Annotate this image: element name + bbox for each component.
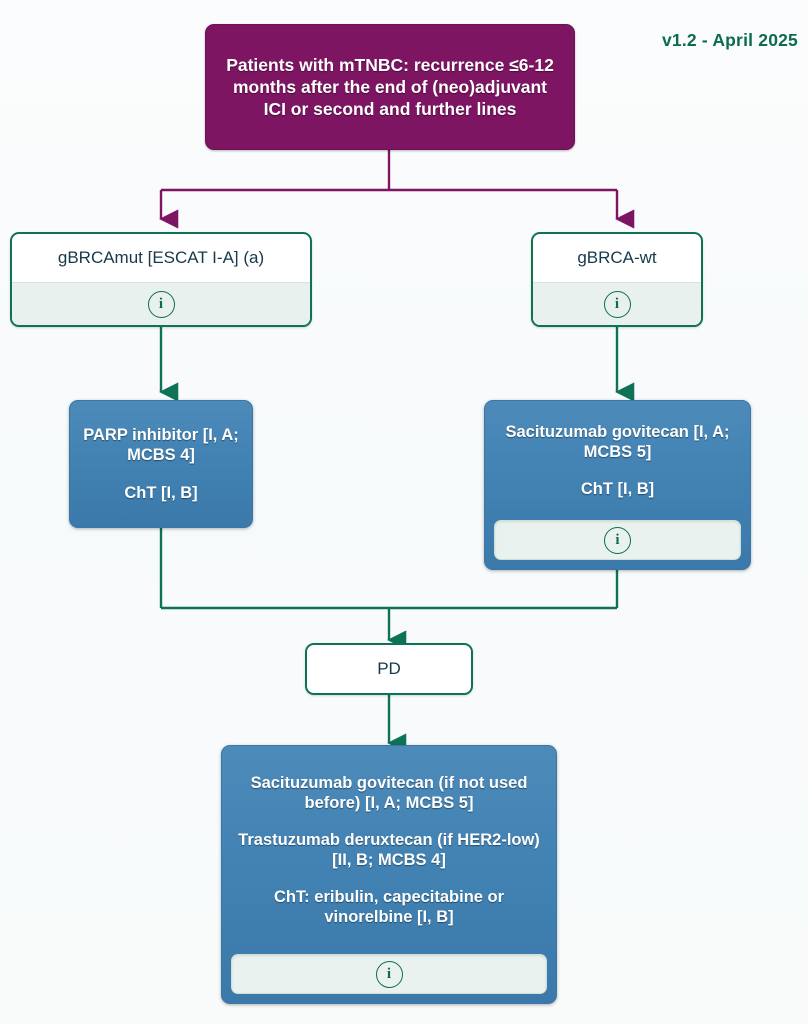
node-label-option-2: Trastuzumab deruxtecan (if HER2-low) [II…	[234, 830, 544, 870]
info-bar[interactable]: i	[494, 520, 741, 560]
node-label-primary: Sacituzumab govitecan [I, A; MCBS 5]	[497, 422, 738, 462]
node-label: Patients with mTNBC: recurrence ≤6-12 mo…	[220, 54, 560, 120]
version-label: v1.2 - April 2025	[662, 30, 798, 51]
info-icon[interactable]: i	[604, 291, 631, 318]
node-label-secondary: ChT [I, B]	[581, 479, 654, 499]
node-gbrca-wildtype[interactable]: gBRCA-wt i	[531, 232, 703, 327]
info-icon[interactable]: i	[604, 527, 631, 554]
node-label-secondary: ChT [I, B]	[124, 483, 197, 503]
node-label-option-3: ChT: eribulin, capecitabine or vinorelbi…	[234, 887, 544, 927]
node-label: gBRCA-wt	[577, 248, 656, 268]
info-bar[interactable]: i	[231, 954, 547, 994]
node-gbrca-mutated[interactable]: gBRCAmut [ESCAT I-A] (a) i	[10, 232, 312, 327]
info-icon[interactable]: i	[148, 291, 175, 318]
node-body: gBRCAmut [ESCAT I-A] (a)	[12, 234, 310, 282]
node-body: Patients with mTNBC: recurrence ≤6-12 mo…	[206, 25, 574, 149]
node-label: PD	[377, 659, 401, 679]
node-progressive-disease[interactable]: PD	[305, 643, 473, 695]
node-body: PARP inhibitor [I, A; MCBS 4] ChT [I, B]	[70, 401, 252, 527]
node-label-primary: PARP inhibitor [I, A; MCBS 4]	[82, 425, 240, 465]
node-label: gBRCAmut [ESCAT I-A] (a)	[58, 248, 264, 268]
treatment-algorithm-diagram: v1.2 - April 2025 Patients with mTNBC: r…	[0, 0, 808, 1024]
info-icon[interactable]: i	[376, 961, 403, 988]
node-parp-inhibitor-treatment[interactable]: PARP inhibitor [I, A; MCBS 4] ChT [I, B]	[69, 400, 253, 528]
node-label-option-1: Sacituzumab govitecan (if not used befor…	[234, 773, 544, 813]
node-body: PD	[307, 645, 471, 693]
node-sacituzumab-govitecan-treatment[interactable]: Sacituzumab govitecan [I, A; MCBS 5] ChT…	[484, 400, 751, 570]
info-bar[interactable]: i	[533, 282, 701, 325]
node-body: Sacituzumab govitecan (if not used befor…	[222, 746, 556, 954]
node-body: Sacituzumab govitecan [I, A; MCBS 5] ChT…	[485, 401, 750, 520]
node-body: gBRCA-wt	[533, 234, 701, 282]
node-patient-population[interactable]: Patients with mTNBC: recurrence ≤6-12 mo…	[205, 24, 575, 150]
node-later-line-options[interactable]: Sacituzumab govitecan (if not used befor…	[221, 745, 557, 1004]
info-bar[interactable]: i	[12, 282, 310, 325]
